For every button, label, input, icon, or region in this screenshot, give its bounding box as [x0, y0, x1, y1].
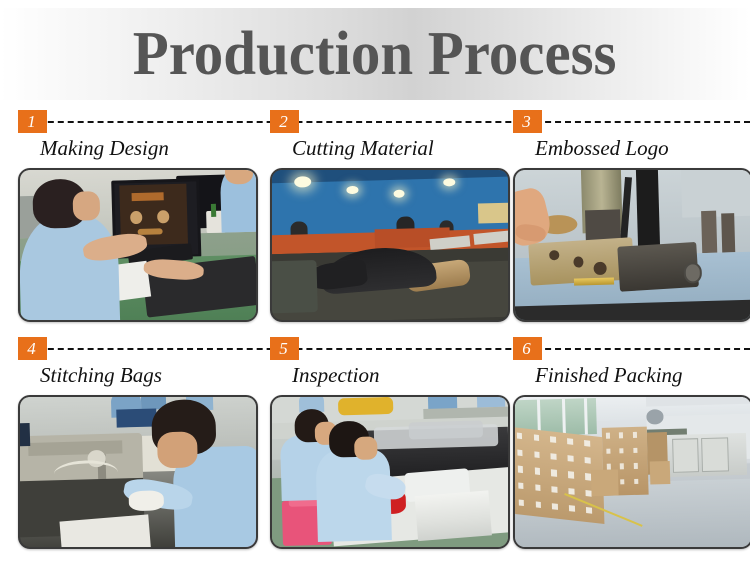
step-title: Inspection — [292, 363, 379, 388]
carton-label — [552, 503, 558, 510]
carton-label — [534, 468, 540, 475]
production-process-banner: Production Process 1 Making Design — [0, 0, 750, 569]
step-number-label: 5 — [279, 340, 290, 357]
process-step-3[interactable]: 3 Embossed Logo — [513, 110, 749, 337]
step-title: Making Design — [40, 136, 169, 161]
step-number-label: 2 — [279, 113, 290, 130]
step-number-label: 6 — [522, 340, 533, 357]
step-photo-making-design — [18, 168, 258, 322]
carton-label — [633, 448, 637, 454]
carton-label — [569, 488, 575, 495]
carton-label — [586, 507, 592, 514]
step-number-badge: 6 — [513, 337, 542, 360]
process-step-6[interactable]: 6 Finished Packing — [513, 337, 749, 564]
step-number-badge: 2 — [270, 110, 299, 133]
carton-label — [620, 479, 624, 485]
carton-label — [551, 453, 557, 460]
carton-label — [606, 448, 610, 454]
step-photo-finished-packing — [513, 395, 750, 549]
process-step-2[interactable]: 2 Cutting Material — [270, 110, 506, 337]
carton-label — [568, 455, 574, 462]
dashed-divider-row-2 — [18, 348, 750, 350]
carton-label — [619, 432, 623, 438]
step-title: Finished Packing — [535, 363, 683, 388]
carton-label — [551, 470, 557, 477]
step-photo-embossed-logo — [513, 168, 750, 322]
step-number-label: 3 — [522, 113, 533, 130]
process-row-1: 1 Making Design — [0, 110, 750, 337]
carton-label — [516, 433, 522, 440]
carton-label — [535, 484, 541, 491]
carton-label — [584, 440, 590, 447]
carton-label — [534, 451, 540, 458]
carton-label — [569, 505, 575, 512]
step-number-badge: 1 — [18, 110, 47, 133]
carton-label — [568, 472, 574, 479]
step-photo-inspection — [270, 395, 510, 549]
dashed-divider-row-1 — [18, 121, 750, 123]
process-step-5[interactable]: 5 Inspection — [270, 337, 506, 564]
process-steps-grid: 1 Making Design — [0, 110, 750, 564]
page-title-banner: Production Process — [0, 8, 750, 100]
carton-label — [517, 466, 523, 473]
carton-label — [620, 448, 624, 454]
carton-label — [620, 464, 624, 470]
carton-label — [518, 482, 524, 489]
carton-label — [634, 479, 638, 485]
carton-label — [632, 432, 636, 438]
step-photo-stitching-bags — [18, 395, 258, 549]
page-title: Production Process — [133, 23, 617, 85]
carton-label — [518, 499, 524, 506]
carton-label — [567, 438, 573, 445]
process-row-2: 4 Stitching Bags — [0, 337, 750, 564]
step-number-badge: 5 — [270, 337, 299, 360]
step-title: Embossed Logo — [535, 136, 669, 161]
carton-label — [585, 457, 591, 464]
step-number-badge: 4 — [18, 337, 47, 360]
step-title: Stitching Bags — [40, 363, 162, 388]
step-title: Cutting Material — [292, 136, 434, 161]
step-number-label: 4 — [27, 340, 38, 357]
carton-label — [552, 486, 558, 493]
carton-label — [533, 434, 539, 441]
carton-label — [633, 463, 637, 469]
carton-label — [550, 436, 556, 443]
carton-label — [606, 433, 610, 439]
step-number-badge: 3 — [513, 110, 542, 133]
process-step-1[interactable]: 1 Making Design — [18, 110, 254, 337]
step-number-label: 1 — [27, 113, 38, 130]
carton-label — [535, 501, 541, 508]
step-photo-cutting-material — [270, 168, 510, 322]
carton-label — [517, 449, 523, 456]
process-step-4[interactable]: 4 Stitching Bags — [18, 337, 254, 564]
